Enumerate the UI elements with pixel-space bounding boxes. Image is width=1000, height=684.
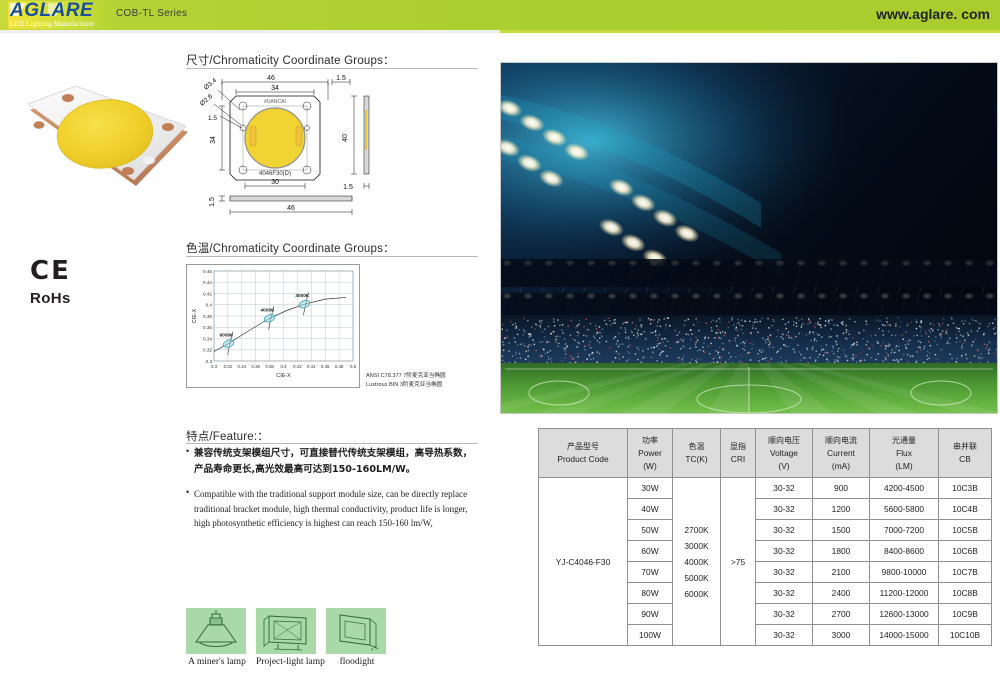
dim-led-diameter: 30 — [271, 179, 279, 186]
svg-text:0.44: 0.44 — [307, 364, 316, 369]
spec-header-tc: 色温 TC(K) — [673, 429, 721, 478]
spec-cell-voltage: 30-32 — [756, 541, 813, 562]
aglare-logo[interactable]: AGLARE LED Lighting Manufacturer — [8, 1, 113, 29]
spec-header-power: 功率 Power (W) — [628, 429, 673, 478]
spec-cell-power: 50W — [628, 520, 673, 541]
spec-cell-power: 70W — [628, 562, 673, 583]
svg-text:0.5: 0.5 — [350, 364, 357, 369]
spec-cell-flux: 5600-5800 — [870, 499, 939, 520]
spec-cell-voltage: 30-32 — [756, 583, 813, 604]
svg-text:0.34: 0.34 — [203, 336, 212, 341]
logo-wordmark: AGLARE — [10, 1, 93, 20]
project-light-lamp-icon — [256, 608, 316, 654]
application-project-light-lamp[interactable]: Project-light lamp — [256, 608, 318, 667]
logo-tagline: LED Lighting Manufacturer — [10, 20, 94, 28]
spec-cell-voltage: 30-32 — [756, 604, 813, 625]
chart-annotations: ANSI C78.377 7阶麦克亚当椭圆 Lustrous BIN 3阶麦克亚… — [366, 372, 446, 390]
application-label-0: A miner's lamp — [186, 657, 248, 667]
rohs-mark: RoHs — [30, 290, 71, 307]
series-label: COB-TL Series — [116, 8, 187, 19]
spec-table-head: 产品型号 Product Code 功率 Power (W) 色温 TC(K) … — [539, 429, 992, 478]
spec-cell-cb: 10C10B — [939, 625, 992, 646]
svg-text:4000K: 4000K — [261, 307, 276, 313]
spec-header-product-code: 产品型号 Product Code — [539, 429, 628, 478]
spec-cell-cb: 10C7B — [939, 562, 992, 583]
spec-cell-tc-value: 3000K — [673, 538, 720, 554]
dim-side-height: 40 — [342, 134, 349, 142]
spec-cell-flux: 4200-4500 — [870, 478, 939, 499]
brand-marking: #UANCAI — [264, 99, 286, 105]
spec-cell-current: 1800 — [813, 541, 870, 562]
spec-cell-cb: 10C4B — [939, 499, 992, 520]
spec-cell-current: 900 — [813, 478, 870, 499]
spec-header-current: 顺向电流 Current (mA) — [813, 429, 870, 478]
dim-side-thickness: 1.5 — [343, 184, 353, 191]
spec-cell-flux: 8400-8600 — [870, 541, 939, 562]
svg-text:0.32: 0.32 — [203, 348, 212, 353]
spec-cell-cri: >75 — [721, 478, 756, 646]
spec-cell-cb: 10C6B — [939, 541, 992, 562]
svg-text:0.3: 0.3 — [211, 364, 218, 369]
svg-text:0.44: 0.44 — [203, 280, 212, 285]
svg-text:CIE-X: CIE-X — [192, 308, 198, 323]
application-miners-lamp[interactable]: A miner's lamp — [186, 608, 248, 667]
chromaticity-section-title: 色温/Chromaticity Coordinate Groups： — [186, 240, 395, 256]
spec-cell-tc-value: 5000K — [673, 570, 720, 586]
spec-cell-cb: 10C8B — [939, 583, 992, 604]
dim-bottom-width: 46 — [287, 205, 295, 212]
svg-text:0.48: 0.48 — [335, 364, 344, 369]
table-row: YJ-C4046-F3030W2700K3000K4000K5000K6000K… — [539, 478, 992, 499]
page-header: AGLARE LED Lighting Manufacturer COB-TL … — [0, 0, 1000, 30]
dim-inner-width: 34 — [271, 85, 279, 92]
svg-text:0.32: 0.32 — [224, 364, 233, 369]
spec-cell-power: 30W — [628, 478, 673, 499]
floodlight-icon — [326, 608, 386, 654]
svg-text:0.36: 0.36 — [203, 325, 212, 330]
dimensions-section-rule — [186, 68, 478, 69]
application-label-2: floodight — [326, 657, 388, 667]
spec-cell-voltage: 30-32 — [756, 478, 813, 499]
svg-text:3000K: 3000K — [295, 293, 310, 299]
svg-text:0.42: 0.42 — [203, 291, 212, 296]
spec-cell-power: 80W — [628, 583, 673, 604]
svg-text:0.4: 0.4 — [280, 364, 287, 369]
feature-item-en: • Compatible with the traditional suppor… — [186, 487, 478, 531]
spec-cell-tc-value: 4000K — [673, 554, 720, 570]
spec-cell-flux: 7000-7200 — [870, 520, 939, 541]
spec-cell-tc-value: 2700K — [673, 522, 720, 538]
spec-header-row: 产品型号 Product Code 功率 Power (W) 色温 TC(K) … — [539, 429, 992, 478]
svg-text:0.38: 0.38 — [203, 314, 212, 319]
spec-cell-cb: 10C9B — [939, 604, 992, 625]
part-marking: 4046F30(D) — [259, 171, 291, 177]
spec-cell-flux: 9800-10000 — [870, 562, 939, 583]
feature-item-cn: • 兼容传统支架模组尺寸，可直接替代传统支架模组，高导热系数，产品寿命更长,高光… — [186, 446, 478, 478]
dim-left-height: 34 — [210, 136, 217, 144]
spec-cell-current: 2100 — [813, 562, 870, 583]
dim-plate-thickness: 1.5 — [209, 197, 216, 207]
svg-text:0.46: 0.46 — [321, 364, 330, 369]
feature-text-cn: 兼容传统支架模组尺寸，可直接替代传统支架模组，高导热系数，产品寿命更长,高光效最… — [194, 446, 478, 478]
spec-cell-flux: 11200-12000 — [870, 583, 939, 604]
chromaticity-section-rule — [186, 256, 478, 257]
dimension-side-view: 40 1.5 — [336, 70, 402, 210]
spec-header-flux: 光通量 Flux (LM) — [870, 429, 939, 478]
bullet-icon-en: • — [186, 487, 194, 531]
dim-hole-big: Ø3.4 — [203, 77, 219, 92]
bullet-icon: • — [186, 446, 194, 478]
application-label-1: Project-light lamp — [256, 657, 318, 667]
spec-cell-power: 90W — [628, 604, 673, 625]
dim-top-width: 46 — [267, 75, 275, 82]
svg-text:0.36: 0.36 — [251, 364, 260, 369]
spec-cell-flux: 14000-15000 — [870, 625, 939, 646]
spec-cell-current: 1200 — [813, 499, 870, 520]
website-url[interactable]: www.aglare. com — [876, 6, 990, 22]
cob-led-product-photo — [16, 74, 192, 206]
spec-cell-voltage: 30-32 — [756, 520, 813, 541]
spec-cell-current: 1500 — [813, 520, 870, 541]
svg-text:0.38: 0.38 — [265, 364, 274, 369]
svg-text:CIE-X: CIE-X — [276, 373, 291, 379]
spec-cell-tc: 2700K3000K4000K5000K6000K — [673, 478, 721, 646]
dim-hole-offset: 1.5 — [208, 115, 217, 122]
spec-header-cri: 显指 CRI — [721, 429, 756, 478]
spec-header-cb: 串并联 CB — [939, 429, 992, 478]
spec-cell-voltage: 30-32 — [756, 499, 813, 520]
spec-cell-power: 60W — [628, 541, 673, 562]
spec-cell-current: 2700 — [813, 604, 870, 625]
certification-marks: CE RoHs — [30, 258, 71, 307]
svg-text:0.4: 0.4 — [206, 303, 213, 308]
miners-lamp-icon — [186, 608, 246, 654]
svg-text:6000K: 6000K — [220, 333, 235, 339]
application-floodlight[interactable]: floodight — [326, 608, 388, 667]
application-icons: A miner's lamp Project-light lamp floodi… — [186, 608, 388, 667]
feature-text-en: Compatible with the traditional support … — [194, 487, 478, 531]
svg-text:0.34: 0.34 — [238, 364, 247, 369]
spec-cell-power: 40W — [628, 499, 673, 520]
svg-text:0.42: 0.42 — [293, 364, 302, 369]
spec-header-voltage: 顺向电压 Voltage (V) — [756, 429, 813, 478]
chromaticity-chart: 0.30.320.340.360.380.40.420.440.460.30.3… — [186, 264, 360, 388]
spec-cell-product-code: YJ-C4046-F30 — [539, 478, 628, 646]
spec-cell-flux: 12600-13000 — [870, 604, 939, 625]
spec-cell-power: 100W — [628, 625, 673, 646]
dim-hole-small: Ø2.6 — [200, 93, 214, 108]
spec-cell-tc-value: 6000K — [673, 586, 720, 602]
spec-cell-cb: 10C3B — [939, 478, 992, 499]
dimensions-section-title: 尺寸/Chromaticity Coordinate Groups： — [186, 52, 395, 68]
spec-cell-voltage: 30-32 — [756, 625, 813, 646]
spec-cell-current: 3000 — [813, 625, 870, 646]
ce-mark: CE — [30, 258, 71, 284]
spec-cell-cb: 10C5B — [939, 520, 992, 541]
annotation-ansi: ANSI C78.377 7阶麦克亚当椭圆 — [366, 372, 446, 381]
spec-table-body: YJ-C4046-F3030W2700K3000K4000K5000K6000K… — [539, 478, 992, 646]
specification-table: 产品型号 Product Code 功率 Power (W) 色温 TC(K) … — [538, 428, 992, 646]
stadium-application-image — [500, 62, 998, 414]
svg-text:0.46: 0.46 — [203, 269, 212, 274]
feature-section-rule — [186, 443, 478, 444]
annotation-lustrous: Lustrous BIN 3阶麦克亚当椭圆 — [366, 381, 446, 390]
spec-cell-voltage: 30-32 — [756, 562, 813, 583]
spec-cell-current: 2400 — [813, 583, 870, 604]
feature-list: • 兼容传统支架模组尺寸，可直接替代传统支架模组，高导热系数，产品寿命更长,高光… — [186, 446, 478, 531]
header-divider-right — [500, 30, 1000, 33]
feature-section-title: 特点/Feature:： — [186, 428, 269, 444]
